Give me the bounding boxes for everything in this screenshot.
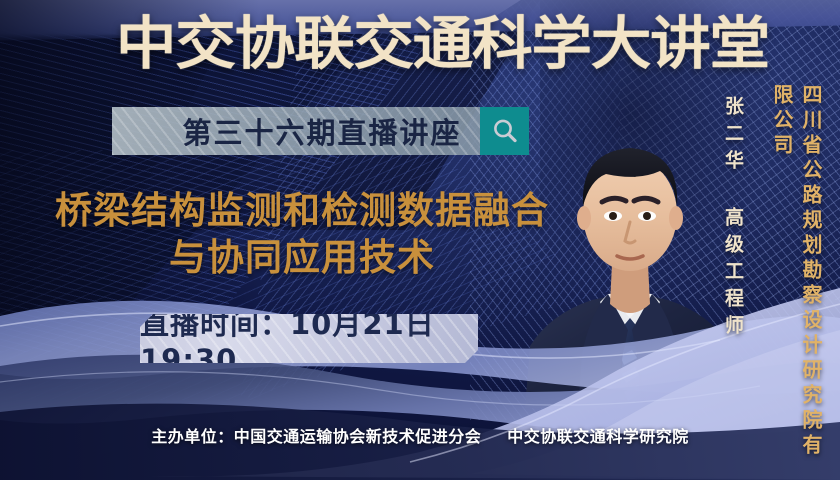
speaker-name-vertical: 张二华 高级工程师 (720, 96, 747, 342)
footer-organizer-1: 中国交通运输协会新技术促进分会 (234, 427, 482, 446)
lecture-headline: 桥梁结构监测和检测数据融合 与协同应用技术 (24, 188, 580, 282)
footer-organizer-2: 中交协联交通科学研究院 (507, 427, 689, 446)
silk-wave-decoration (0, 270, 840, 480)
headline-line-2: 与协同应用技术 (24, 235, 580, 282)
episode-label: 第三十六期直播讲座 (112, 107, 480, 155)
lecture-poster: 中交协联交通科学大讲堂 第三十六期直播讲座 桥梁结构监测和检测数据融合 与协同应… (0, 0, 840, 480)
episode-banner: 第三十六期直播讲座 (112, 107, 529, 155)
speaker-organization-vertical: 四川省公路规划勘察设计研究院有限公司 (768, 84, 826, 480)
headline-line-1: 桥梁结构监测和检测数据融合 (55, 189, 549, 232)
organizer-footer: 主办单位：中国交通运输协会新技术促进分会中交协联交通科学研究院 (0, 423, 840, 447)
broadcast-time-banner: 直播时间：10月21日19:30 (140, 314, 478, 363)
page-title: 中交协联交通科学大讲堂 (116, 16, 773, 73)
footer-prefix: 主办单位： (151, 427, 234, 446)
broadcast-time-label: 直播时间：10月21日19:30 (140, 314, 478, 363)
search-icon[interactable] (480, 107, 529, 155)
